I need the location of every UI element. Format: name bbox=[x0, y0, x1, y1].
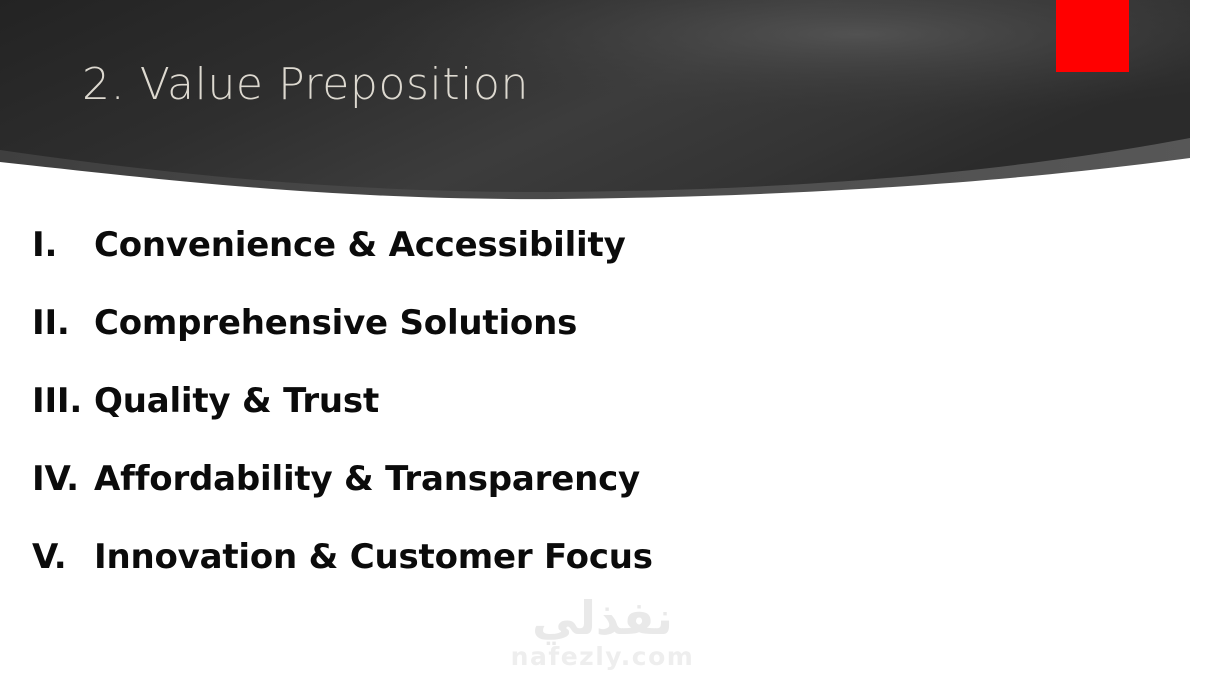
red-accent-rectangle bbox=[1056, 0, 1129, 72]
value-proposition-list: I. Convenience & Accessibility II. Compr… bbox=[32, 225, 1172, 615]
watermark-domain-text: nafezly.com bbox=[511, 643, 695, 671]
list-item-label: Convenience & Accessibility bbox=[94, 225, 626, 265]
list-item-marker: I. bbox=[32, 225, 94, 265]
list-item-marker: V. bbox=[32, 537, 94, 577]
list-item-label: Innovation & Customer Focus bbox=[94, 537, 653, 577]
list-item-marker: III. bbox=[32, 381, 94, 421]
slide-canvas: 2. Value Preposition I. Convenience & Ac… bbox=[0, 0, 1205, 678]
list-item: IV. Affordability & Transparency bbox=[32, 459, 1172, 537]
list-item: III. Quality & Trust bbox=[32, 381, 1172, 459]
list-item: II. Comprehensive Solutions bbox=[32, 303, 1172, 381]
page-title: 2. Value Preposition bbox=[82, 60, 529, 111]
list-item-label: Comprehensive Solutions bbox=[94, 303, 577, 343]
list-item-label: Affordability & Transparency bbox=[94, 459, 640, 499]
list-item: V. Innovation & Customer Focus bbox=[32, 537, 1172, 615]
list-item-label: Quality & Trust bbox=[94, 381, 379, 421]
list-item: I. Convenience & Accessibility bbox=[32, 225, 1172, 303]
list-item-marker: IV. bbox=[32, 459, 94, 499]
list-item-marker: II. bbox=[32, 303, 94, 343]
